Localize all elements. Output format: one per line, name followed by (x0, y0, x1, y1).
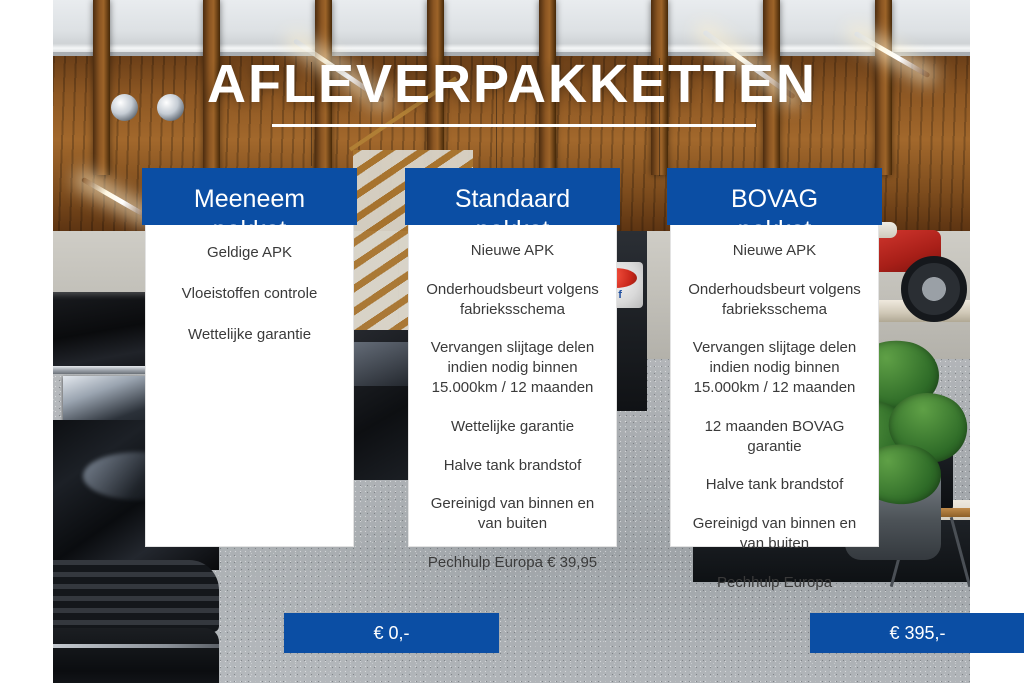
feature-item: Onderhoudsbeurt volgens fabrieksschema (685, 280, 864, 320)
page-title: AFLEVERPAKKETTEN (0, 56, 1024, 113)
feature-item: Halve tank brandstof (423, 456, 602, 476)
feature-item: Pechhulp Europa € 39,95 (423, 553, 602, 573)
package-name-line1: BOVAG (673, 184, 876, 215)
package-card-bovag[interactable]: BOVAG pakket Nieuwe APK Onderhoudsbeurt … (667, 168, 882, 547)
package-price[interactable]: € 395,- (810, 613, 1024, 653)
package-card-header: BOVAG pakket (667, 168, 882, 225)
package-card-standaard[interactable]: Standaard pakket Nieuwe APK Onderhoudsbe… (405, 168, 620, 547)
feature-item: Wettelijke garantie (160, 325, 339, 345)
package-card-header: Meeneem pakket (142, 168, 357, 225)
car-bumper-chrome (53, 644, 219, 648)
feature-item: Halve tank brandstof (685, 475, 864, 495)
feature-item: Pechhulp Europa (685, 573, 864, 593)
car-bumper (53, 628, 219, 683)
feature-item: Nieuwe APK (423, 241, 602, 261)
title-underline-rule (272, 124, 756, 127)
moped-wheel (901, 256, 967, 322)
feature-item: Nieuwe APK (685, 241, 864, 261)
ceiling-soffit (53, 0, 970, 56)
car-grille (53, 560, 219, 632)
feature-item: Geldige APK (160, 243, 339, 263)
feature-item: Vloeistoffen controle (160, 284, 339, 304)
feature-item: 12 maanden BOVAG garantie (685, 417, 864, 457)
feature-item: Vervangen slijtage delen indien nodig bi… (423, 338, 602, 397)
package-name-line1: Meeneem (148, 184, 351, 215)
feature-item: Gereinigd van binnen en van buiten (423, 494, 602, 534)
feature-item: Gereinigd van binnen en van buiten (685, 514, 864, 554)
package-card-header: Standaard pakket (405, 168, 620, 225)
feature-item: Wettelijke garantie (423, 417, 602, 437)
package-card-meeneem[interactable]: Meeneem pakket Geldige APK Vloeistoffen … (142, 168, 357, 547)
package-name-line1: Standaard (411, 184, 614, 215)
feature-item: Onderhoudsbeurt volgens fabrieksschema (423, 280, 602, 320)
package-feature-list: Nieuwe APK Onderhoudsbeurt volgens fabri… (670, 225, 879, 547)
feature-item: Vervangen slijtage delen indien nodig bi… (685, 338, 864, 397)
package-feature-list: Nieuwe APK Onderhoudsbeurt volgens fabri… (408, 225, 617, 547)
package-feature-list: Geldige APK Vloeistoffen controle Wettel… (145, 225, 354, 547)
package-price[interactable]: € 0,- (284, 613, 499, 653)
